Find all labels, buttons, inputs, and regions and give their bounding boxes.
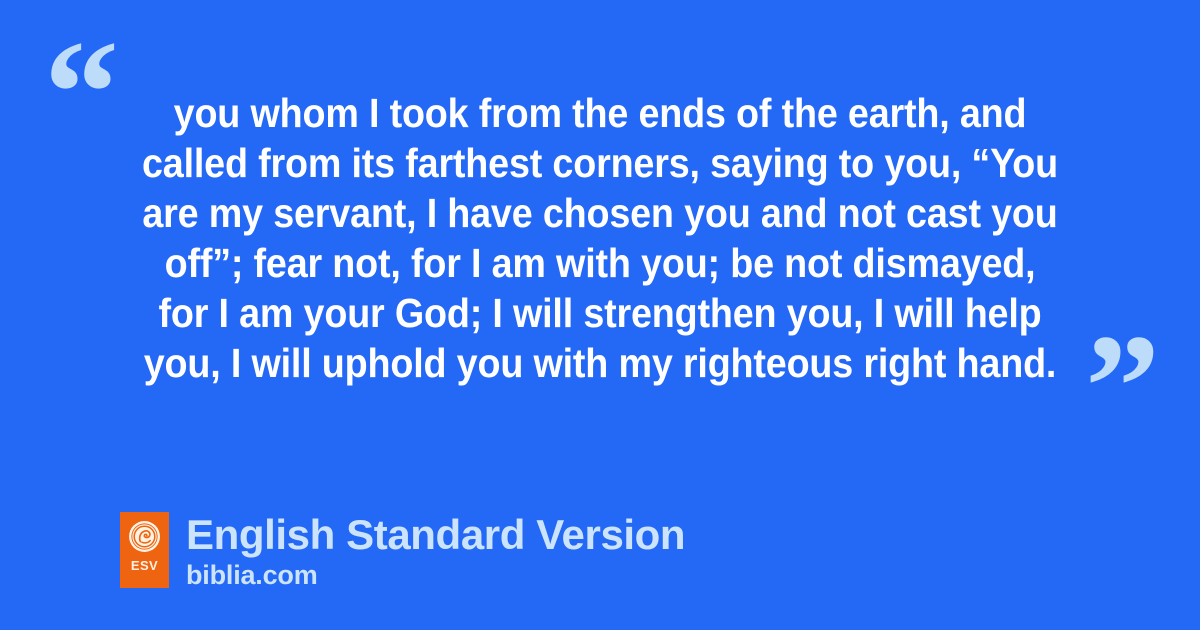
attribution-text: English Standard Version biblia.com	[186, 512, 685, 590]
verse-line: for I am your God; I will strengthen you…	[140, 288, 1060, 338]
site-name: biblia.com	[186, 560, 685, 590]
attribution: ESV English Standard Version biblia.com	[120, 512, 685, 590]
esv-seal-icon	[128, 520, 161, 553]
verse-line: off”; fear not, for I am with you; be no…	[140, 238, 1060, 288]
verse-card: “ you whom I took from the ends of the e…	[0, 0, 1200, 630]
closing-quote-icon: ”	[1085, 312, 1158, 462]
bible-version-name: English Standard Version	[186, 512, 685, 558]
verse-line: you, I will uphold you with my righteous…	[140, 338, 1060, 388]
esv-logo: ESV	[120, 512, 169, 588]
verse-line: are my servant, I have chosen you and no…	[140, 188, 1060, 238]
esv-logo-label: ESV	[131, 559, 158, 572]
verse-line: you whom I took from the ends of the ear…	[140, 88, 1060, 138]
verse-text: you whom I took from the ends of the ear…	[100, 88, 1100, 388]
verse-line: called from its farthest corners, saying…	[140, 138, 1060, 188]
